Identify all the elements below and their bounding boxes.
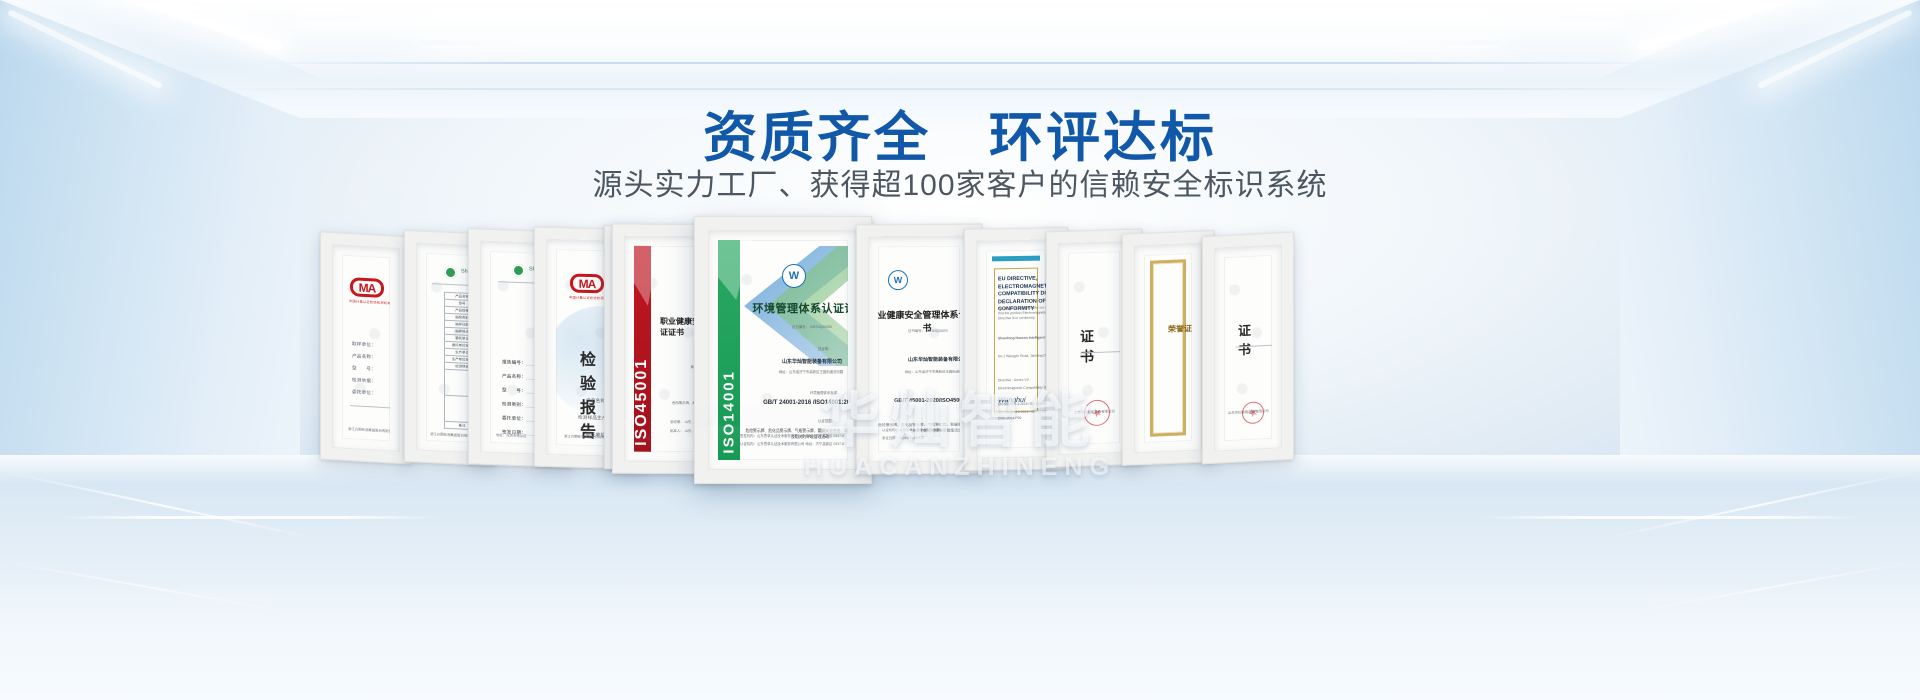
cert-field: 检测类别：____ [502,401,537,408]
cert-field: 委托单位：____ [502,415,537,422]
certificate-shelf: MA 中国计量认证检验检测机构 取样单位： 产品名称： 型 号： 检测依据： 委… [0,0,1920,700]
frame-mat: EU DIRECTIVE,ELECTROMAGNETIC COMPATIBILI… [976,239,1056,458]
certificate-signer: 总经理： 山东… [670,419,695,424]
honor-gold-border [1150,259,1186,437]
cert-field: 报告编号：____ [502,359,537,366]
certificate-body: We herewith declare under our own respon… [998,305,1046,321]
certificate-paper: EU DIRECTIVE,ELECTROMAGNETIC COMPATIBILI… [986,249,1046,448]
certificate-signature: Wanghui [998,397,1026,404]
certificate-company: 山东华灿智能装备有限公司 [882,355,960,363]
banner-stage: 资质齐全 环评达标 源头实力工厂、获得超100家客户的信赖安全标识系统 MA 中… [0,0,1920,700]
certificate-paper: 证 书 山东华灿智能装备有限公司 [1068,251,1120,445]
certificate-frame[interactable]: 证 书 山东华灿智能装备有限公司 [1202,232,1294,465]
cert-field: 产品名称：____ [502,373,537,380]
floor-light-line-1 [60,516,440,519]
certificate-company: 山东华灿智能装备有限公司 [754,358,848,365]
frame-mat: 证 书 山东华灿智能装备有限公司 [1214,244,1282,452]
cert-field: 产品名称 [586,398,605,404]
certificate-standard: Directive : Annex VII [998,378,1029,383]
iso-standard-label: ISO14001 [721,370,738,454]
frame-mat: 证 书 山东华灿智能装备有限公司 [1058,241,1130,455]
ma-badge-icon: MA [570,274,604,294]
certificate-scope-label: 认证范围： [818,418,835,423]
certificate-paper: 荣誉证书 [1144,253,1192,443]
certificate-frame-featured[interactable]: ISO14001 W 环境管理体系认证证书 证书编号： 00E03Q20055 … [694,216,872,484]
certificate-signer: 认证机构：山东思卓认证技术服务有限公司 [882,427,946,432]
cert-field: 产品名称： [352,353,376,360]
certificate-company: Shandong Huacan Intelligent Equipment Co… [998,335,1046,341]
certificate-signer: 签发机构：山东思卓认证技术服务有限公司 地址：济宁高新区 0537-8 [740,433,844,438]
certificate-signer: 批准人： 山东… [670,428,695,433]
frame-mat: ISO14001 W 环境管理体系认证证书 证书编号： 00E03Q20055 … [708,230,858,470]
certificate-paper: ISO14001 W 环境管理体系认证证书 证书编号： 00E03Q20055 … [718,240,848,460]
certificate-address: No.1 Wangyin Road, Jiaxiang District, Ji… [998,353,1046,359]
certificate-frame[interactable]: 荣誉证书 [1122,230,1214,466]
certificate-footer: 地址：深圳市南山区 [496,432,527,438]
iso-color-band: ISO14001 [718,240,740,460]
certificate-paper: 证 书 山东华灿智能装备有限公司 [1224,255,1272,442]
cnas-logo-icon [512,264,525,277]
certificate-standard: GB/T 45001-2020/ISO45001:2018 [880,397,960,404]
cert-field: 取样单位： [352,341,376,348]
iso-standard-label: ISO45001 [634,358,651,446]
certificate-number: 证书编号： 00E03Q20055 [792,324,832,329]
ma-badge-icon: MA [350,277,384,298]
certificate-address: 地址：山东省济宁市高新区王因街道洸河路 [748,370,848,375]
certification-body-emblem-icon: W [782,264,806,288]
certificate-title: 环境管理体系认证证书 [750,300,848,316]
certification-body-emblem-icon: W [888,270,908,290]
cnas-logo-icon [444,266,457,280]
floor-light-line-2 [1480,516,1860,519]
certificate-number: 证书编号： 00E03Q20055 [908,328,948,333]
eu-header-bar [992,256,1040,262]
certificate-standard: IEC 61000-4-2:2019 / IEC 61000-4-3:2020 [998,409,1046,414]
certificate-paper: W 职业健康安全管理体系认证证书 证书编号： 00E03Q20055 山东华灿智… [878,246,960,453]
certificate-standard-label: 环境管理体系标准： [810,390,841,395]
certificate-title: 证 书 [1238,319,1272,359]
certificate-title: 证 书 [1080,325,1120,366]
cert-field: 型 号：____ [502,387,537,394]
certificate-frame[interactable]: MA 中国计量认证检验检测机构 取样单位： 产品名称： 型 号： 检测依据： 委… [320,231,412,464]
frame-mat: W 职业健康安全管理体系认证证书 证书编号： 00E03Q20055 山东华灿智… [868,236,970,463]
certificate-address: 地址：山东省济宁市高新区王因街道洸河路 [878,369,960,375]
certificate-title: 荣誉证书 [1168,323,1192,335]
certificate-paper: MA 中国计量认证检验检测机构 取样单位： 产品名称： 型 号： 检测依据： 委… [342,255,390,442]
certificate-standard: GB/T 24001-2016 /ISO14001:2015 [750,400,848,406]
certificate-paper: ShenZhen 产品名称 型号 产品规格 抽检类别 抽样日期 抽样地点 委托单… [426,253,474,443]
certificate-signer: 认证机构：山东思卓认证技术服务有限公司 地址：济宁高新区 0537-8 [740,441,844,446]
frame-mat: MA 中国计量认证检验检测机构 取样单位： 产品名称： 型 号： 检测依据： 委… [332,244,400,452]
iso-color-band: ISO45001 [634,246,651,452]
cert-field: 检测依据： [352,377,376,384]
certificate-standard: Electromagnetic Compatibility Directive … [998,385,1046,390]
certificate-signer: 发证日期：2024年06月05日 [882,435,924,440]
certificate-number: DOC-2024-P02 [998,416,1021,420]
certificate-company-label: 兹证明： [818,346,832,351]
cert-field: 委托单位： [352,389,376,396]
frame-mat: 荣誉证书 [1134,243,1202,454]
cert-field: 型 号： [352,365,376,372]
